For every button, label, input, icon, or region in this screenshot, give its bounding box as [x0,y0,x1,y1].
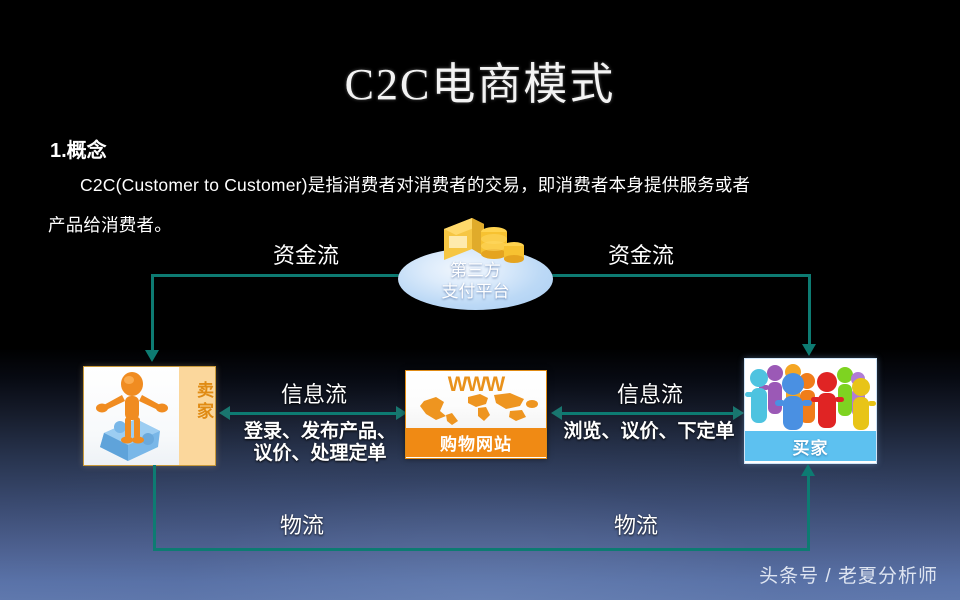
info-flow-right-arrowhead-right-icon [733,406,744,420]
fund-flow-right-label: 资金流 [608,238,674,270]
seller-puzzle-figure-icon [84,367,179,465]
fund-flow-right-arrowhead-icon [802,344,816,356]
info-flow-right-arrowhead-left-icon [551,406,562,420]
website-illustration: WWW [406,371,546,428]
www-world-map-icon: WWW [406,371,546,428]
payment-node-label-line1: 第三方 [398,260,553,281]
fund-flow-right-vertical-line [808,274,811,346]
fund-flow-left-vertical-line [151,274,154,352]
fund-flow-right-horizontal-line [543,274,811,277]
buyer-label: 买家 [745,431,876,461]
seller-node[interactable]: 卖家 [83,366,216,466]
info-flow-left-detail-line2: 议价、处理定单 [232,443,408,465]
footer-watermark: 头条号 / 老夏分析师 [759,561,938,588]
fund-flow-left-arrowhead-icon [145,350,159,362]
body-paragraph-line-1: C2C(Customer to Customer)是指消费者对消费者的交易，即消… [80,172,750,197]
info-flow-right-detail: 浏览、议价、下定单 [551,421,747,443]
slide-canvas: C2C电商模式 1.概念 C2C(Customer to Customer)是指… [0,0,960,600]
shopping-website-node[interactable]: WWW 购物网站 [405,370,547,459]
payment-node-label-line2: 支付平台 [398,281,553,302]
fund-flow-left-horizontal-line [151,274,409,277]
info-flow-left-label: 信息流 [281,377,347,409]
info-flow-left-detail: 登录、发布产品、 议价、处理定单 [232,421,408,466]
logistics-right-label: 物流 [614,508,658,540]
logistics-right-vertical-line [807,475,810,549]
buyer-crowd-figures-icon [745,359,876,431]
logistics-left-label: 物流 [280,508,324,540]
logistics-right-arrowhead-icon [801,464,815,476]
logistics-bottom-horizontal-line [153,548,810,551]
info-flow-left-arrowhead-left-icon [219,406,230,420]
seller-label-strip: 卖家 [179,367,215,465]
page-title: C2C电商模式 [0,48,960,112]
info-flow-right-label: 信息流 [617,377,683,409]
section-heading: 1.概念 [50,134,107,163]
buyer-illustration [745,359,876,431]
svg-text:WWW: WWW [448,373,506,396]
shopping-website-label: 购物网站 [406,428,546,457]
info-flow-left-detail-line1: 登录、发布产品、 [232,421,408,443]
payment-node-label: 第三方 支付平台 [398,260,553,303]
third-party-payment-node[interactable]: 第三方 支付平台 [398,248,553,310]
seller-label: 卖家 [179,381,215,423]
buyer-node[interactable]: 买家 [744,358,877,464]
info-flow-right-line [560,412,740,415]
info-flow-left-line [228,412,403,415]
body-paragraph-line-2: 产品给消费者。 [48,212,172,237]
logistics-left-vertical-line [153,465,156,551]
seller-illustration [84,367,179,465]
fund-flow-left-label: 资金流 [273,238,339,270]
